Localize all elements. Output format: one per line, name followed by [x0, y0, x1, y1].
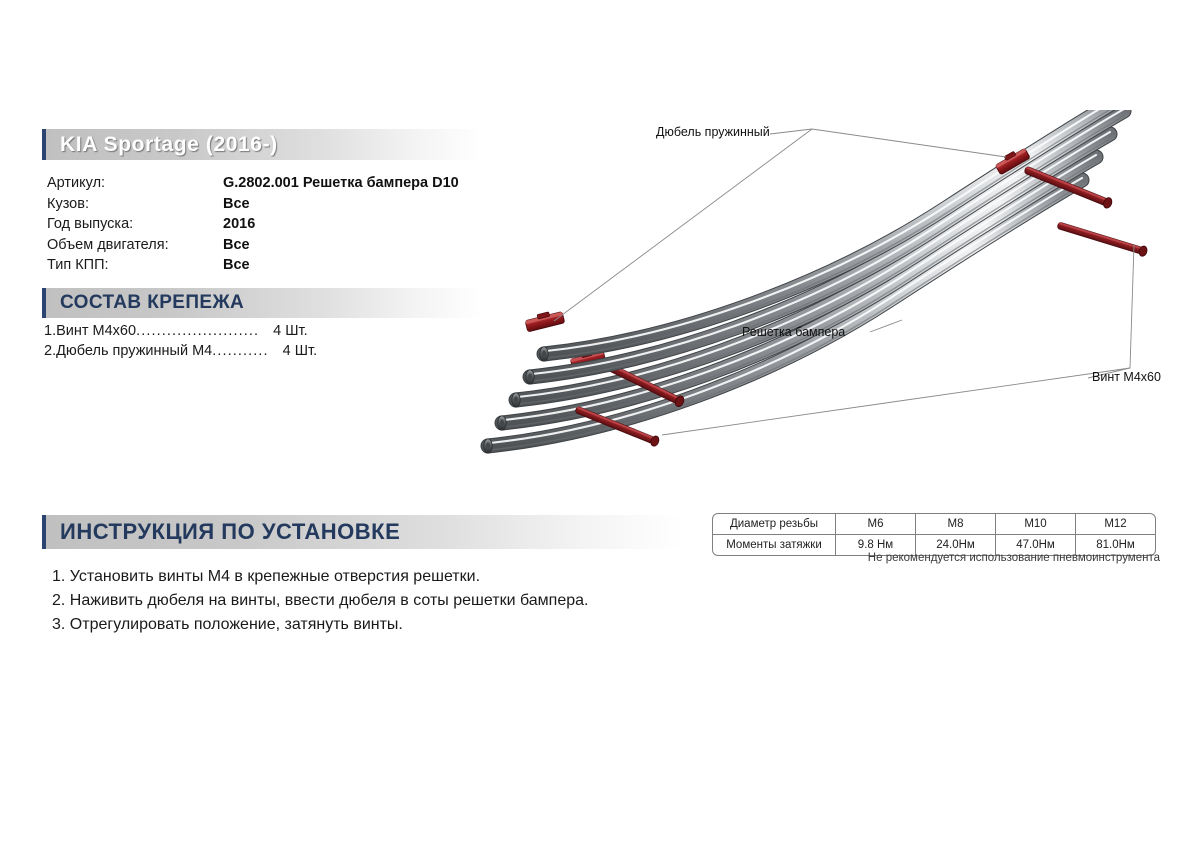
- spec-label: Кузов:: [47, 194, 223, 215]
- spec-value: 2016: [223, 214, 487, 235]
- torque-diameter-cell: M12: [1076, 514, 1155, 535]
- diagram-label-grille: Решетка бампера: [742, 325, 845, 339]
- product-spec-table: Артикул: G.2802.001 Решетка бампера D10 …: [47, 173, 487, 276]
- torque-diameter-cell: M10: [996, 514, 1076, 535]
- accent-tick: [42, 288, 46, 318]
- diagram-label-screw: Винт М4х60: [1092, 370, 1161, 384]
- spec-row: Объем двигателя: Все: [47, 235, 487, 256]
- spring-anchor: [524, 309, 564, 332]
- spec-value: Все: [223, 194, 487, 215]
- accent-tick: [42, 515, 46, 549]
- torque-table-wrapper: Диаметр резьбы M6 M8 M10 M12 Моменты зат…: [712, 513, 1156, 556]
- torque-table-note: Не рекомендуется использование пневмоинс…: [712, 552, 1160, 564]
- kit-item-name: Дюбель пружинный М4: [56, 341, 212, 361]
- spec-value: Все: [223, 255, 487, 276]
- kit-item-index: 1.: [44, 321, 56, 341]
- spec-row: Артикул: G.2802.001 Решетка бампера D10: [47, 173, 487, 194]
- spec-label: Артикул:: [47, 173, 223, 194]
- kit-section-title: СОСТАВ КРЕПЕЖА: [60, 292, 244, 314]
- table-row: Диаметр резьбы M6 M8 M10 M12: [713, 514, 1155, 535]
- kit-item-index: 2.: [44, 341, 56, 361]
- kit-item-qty: 4 Шт.: [273, 321, 307, 341]
- spec-value: Все: [223, 235, 487, 256]
- kit-section-bar: СОСТАВ КРЕПЕЖА: [42, 288, 484, 318]
- accent-tick: [42, 129, 46, 160]
- instruction-step: 3. Отрегулировать положение, затянуть ви…: [52, 613, 792, 637]
- torque-table: Диаметр резьбы M6 M8 M10 M12 Моменты зат…: [712, 513, 1156, 556]
- page-title: KIA Sportage (2016-): [60, 133, 278, 157]
- assembly-diagram: Дюбель пружинный Решетка бампера Винт М4…: [470, 110, 1190, 470]
- product-title-bar: KIA Sportage (2016-): [42, 129, 484, 160]
- kit-item-name: Винт М4х60: [56, 321, 136, 341]
- instruction-step: 1. Установить винты М4 в крепежные отвер…: [52, 565, 792, 589]
- instruction-step-list: 1. Установить винты М4 в крепежные отвер…: [52, 565, 792, 637]
- installation-sheet-page: KIA Sportage (2016-) Артикул: G.2802.001…: [0, 0, 1200, 848]
- spec-row: Год выпуска: 2016: [47, 214, 487, 235]
- mounting-screw: [1056, 220, 1148, 257]
- spec-label: Тип КПП:: [47, 255, 223, 276]
- torque-diameter-cell: M6: [836, 514, 916, 535]
- spec-row: Тип КПП: Все: [47, 255, 487, 276]
- kit-item-qty: 4 Шт.: [283, 341, 317, 361]
- torque-diameter-cell: M8: [916, 514, 996, 535]
- torque-row-label: Диаметр резьбы: [713, 514, 836, 535]
- kit-item-dots: ........................: [136, 321, 259, 341]
- spec-label: Объем двигателя:: [47, 235, 223, 256]
- spec-value: G.2802.001 Решетка бампера D10: [223, 173, 487, 194]
- instruction-section-title: ИНСТРУКЦИЯ ПО УСТАНОВКЕ: [60, 519, 400, 545]
- spec-row: Кузов: Все: [47, 194, 487, 215]
- instruction-step: 2. Наживить дюбеля на винты, ввести дюбе…: [52, 589, 792, 613]
- assembly-diagram-svg: [470, 110, 1190, 470]
- spec-label: Год выпуска:: [47, 214, 223, 235]
- kit-item-dots: ...........: [212, 341, 268, 361]
- list-item: 1. Винт М4х60 ........................ 4…: [44, 321, 464, 341]
- kit-item-list: 1. Винт М4х60 ........................ 4…: [44, 321, 464, 361]
- list-item: 2. Дюбель пружинный М4 ........... 4 Шт.: [44, 341, 464, 361]
- diagram-label-anchor: Дюбель пружинный: [656, 125, 770, 139]
- instruction-section-bar: ИНСТРУКЦИЯ ПО УСТАНОВКЕ: [42, 515, 682, 549]
